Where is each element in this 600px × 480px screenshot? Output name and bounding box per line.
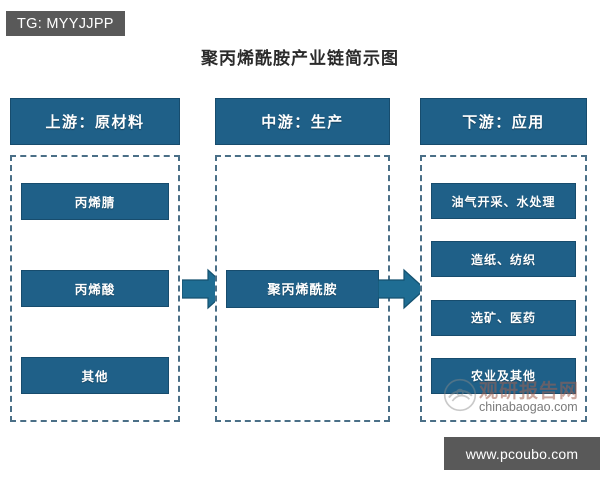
- node-midstream-1: 聚丙烯酰胺: [226, 270, 379, 308]
- footer-url-label: www.pcoubo.com: [466, 446, 579, 462]
- node-upstream-3: 其他: [21, 357, 169, 394]
- column-midstream: 中游：生产 聚丙烯酰胺: [215, 98, 390, 422]
- overlay-tag-label: TG: MYYJJPP: [17, 16, 114, 32]
- column-header-downstream: 下游：应用: [420, 98, 587, 145]
- column-body-upstream: 丙烯腈 丙烯酸 其他: [10, 155, 180, 422]
- node-downstream-3: 选矿、医药: [431, 300, 576, 336]
- column-body-midstream: 聚丙烯酰胺: [215, 155, 390, 422]
- footer-url-bar: www.pcoubo.com: [444, 437, 600, 470]
- column-body-downstream: 油气开采、水处理 造纸、纺织 选矿、医药 农业及其他: [420, 155, 587, 422]
- column-header-midstream: 中游：生产: [215, 98, 390, 145]
- overlay-tag: TG: MYYJJPP: [6, 11, 125, 36]
- node-downstream-2: 造纸、纺织: [431, 241, 576, 277]
- arrow-right-icon-midstream-to-downstream: [378, 268, 426, 310]
- page-title: 聚丙烯酰胺产业链简示图: [0, 44, 600, 69]
- node-downstream-1: 油气开采、水处理: [431, 183, 576, 219]
- node-upstream-2: 丙烯酸: [21, 270, 169, 307]
- column-header-upstream: 上游：原材料: [10, 98, 180, 145]
- node-upstream-1: 丙烯腈: [21, 183, 169, 220]
- column-downstream: 下游：应用 油气开采、水处理 造纸、纺织 选矿、医药 农业及其他: [420, 98, 587, 422]
- node-downstream-4: 农业及其他: [431, 358, 576, 394]
- column-upstream: 上游：原材料 丙烯腈 丙烯酸 其他: [10, 98, 180, 422]
